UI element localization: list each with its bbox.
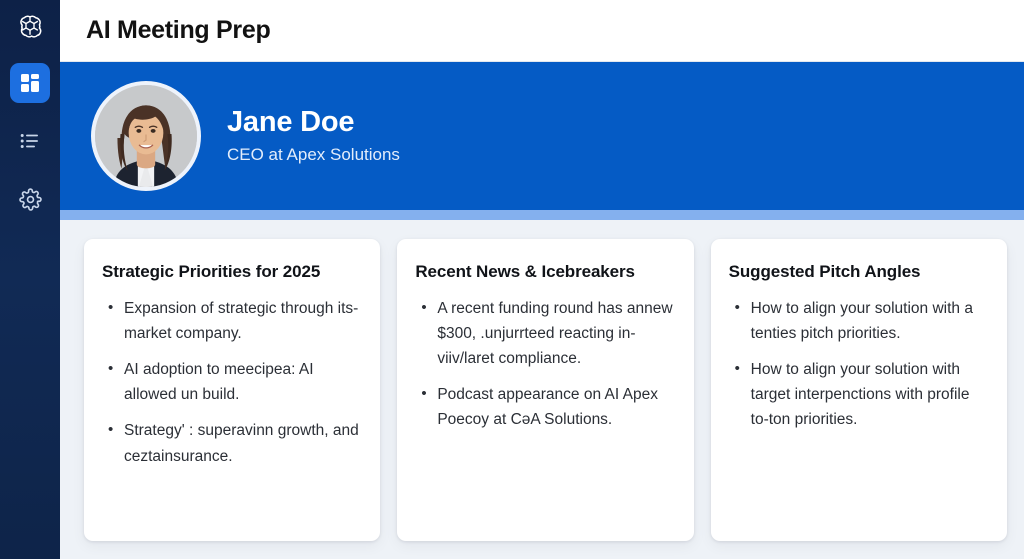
card-title: Strategic Priorities for 2025 bbox=[102, 262, 360, 282]
openai-logo-icon[interactable] bbox=[11, 9, 49, 47]
page-title: AI Meeting Prep bbox=[86, 16, 270, 45]
avatar bbox=[91, 81, 201, 191]
profile-role: CEO at Apex Solutions bbox=[227, 145, 400, 165]
sidebar-item-list[interactable] bbox=[10, 121, 50, 161]
card-title: Recent News & Icebreakers bbox=[415, 262, 673, 282]
list-item: Strategy' : superavinn growth, and cezta… bbox=[102, 418, 360, 468]
card-bullet-list: How to align your solution with a tentie… bbox=[729, 296, 987, 433]
card-pitch-angles: Suggested Pitch Angles How to align your… bbox=[711, 239, 1007, 541]
sidebar bbox=[0, 0, 60, 559]
list-item: Expansion of strategic through its-marke… bbox=[102, 296, 360, 346]
main-column: AI Meeting Prep bbox=[60, 0, 1024, 559]
sidebar-item-dashboard[interactable] bbox=[10, 63, 50, 103]
gear-icon bbox=[19, 188, 42, 211]
card-strategic-priorities: Strategic Priorities for 2025 Expansion … bbox=[84, 239, 380, 541]
profile-text: Jane Doe CEO at Apex Solutions bbox=[227, 107, 400, 166]
banner-accent-strip bbox=[60, 210, 1024, 220]
list-icon bbox=[19, 130, 41, 152]
profile-name: Jane Doe bbox=[227, 107, 400, 139]
topbar: AI Meeting Prep bbox=[60, 0, 1024, 62]
card-title: Suggested Pitch Angles bbox=[729, 262, 987, 282]
profile-banner: Jane Doe CEO at Apex Solutions bbox=[60, 62, 1024, 210]
list-item: AI adoption to meecipea: AI allowed un b… bbox=[102, 357, 360, 407]
card-bullet-list: A recent funding round has annew $300, .… bbox=[415, 296, 673, 433]
card-bullet-list: Expansion of strategic through its-marke… bbox=[102, 296, 360, 469]
card-recent-news: Recent News & Icebreakers A recent fundi… bbox=[397, 239, 693, 541]
list-item: Podcast appearance on AI Apex Poecoy at … bbox=[415, 382, 673, 432]
list-item: How to align your solution with a tentie… bbox=[729, 296, 987, 346]
sidebar-item-settings[interactable] bbox=[10, 179, 50, 219]
list-item: How to align your solution with target i… bbox=[729, 357, 987, 432]
list-item: A recent funding round has annew $300, .… bbox=[415, 296, 673, 371]
dashboard-grid-icon bbox=[19, 72, 41, 94]
cards-container: Strategic Priorities for 2025 Expansion … bbox=[60, 220, 1024, 559]
app-root: AI Meeting Prep bbox=[0, 0, 1024, 559]
